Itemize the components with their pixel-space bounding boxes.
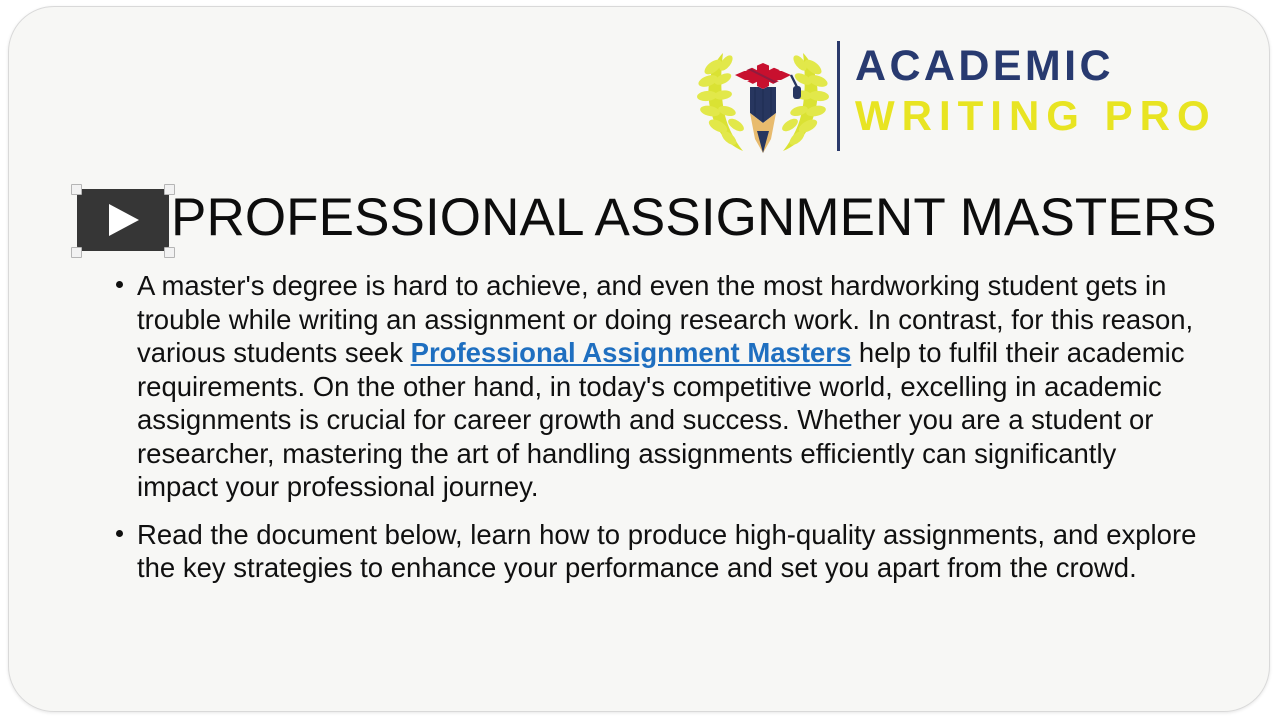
logo-word-academic: ACADEMIC: [855, 41, 1195, 91]
selection-handle-top-right[interactable]: [164, 184, 175, 195]
title-row: PROFESSIONAL ASSIGNMENT MASTERS: [75, 185, 1205, 255]
brand-logo: ACADEMIC WRITING PRO: [693, 35, 1193, 157]
bullet-dot-icon: [116, 281, 123, 288]
logo-wordmark: ACADEMIC WRITING PRO: [855, 41, 1195, 141]
logo-word-writing-pro: WRITING PRO: [855, 91, 1195, 141]
page-title: PROFESSIONAL ASSIGNMENT MASTERS: [171, 179, 1217, 257]
selection-handle-top-left[interactable]: [71, 184, 82, 195]
list-item: A master's degree is hard to achieve, an…: [113, 269, 1203, 504]
presentation-slide: ACADEMIC WRITING PRO PROFESSIONAL ASSIGN…: [8, 6, 1270, 712]
bullet-dot-icon: [116, 530, 123, 537]
selection-handle-bottom-left[interactable]: [71, 247, 82, 258]
logo-divider: [837, 41, 840, 151]
selection-handle-bottom-right[interactable]: [164, 247, 175, 258]
play-icon[interactable]: [109, 204, 139, 236]
professional-assignment-masters-link[interactable]: Professional Assignment Masters: [411, 337, 852, 368]
body-bullet-list: A master's degree is hard to achieve, an…: [113, 269, 1203, 585]
bullet-text-segment: Read the document below, learn how to pr…: [137, 519, 1196, 584]
video-placeholder[interactable]: [77, 189, 169, 251]
list-item: Read the document below, learn how to pr…: [113, 518, 1203, 585]
laurel-wreath-uk-graduation-pencil-emblem: [693, 35, 833, 157]
